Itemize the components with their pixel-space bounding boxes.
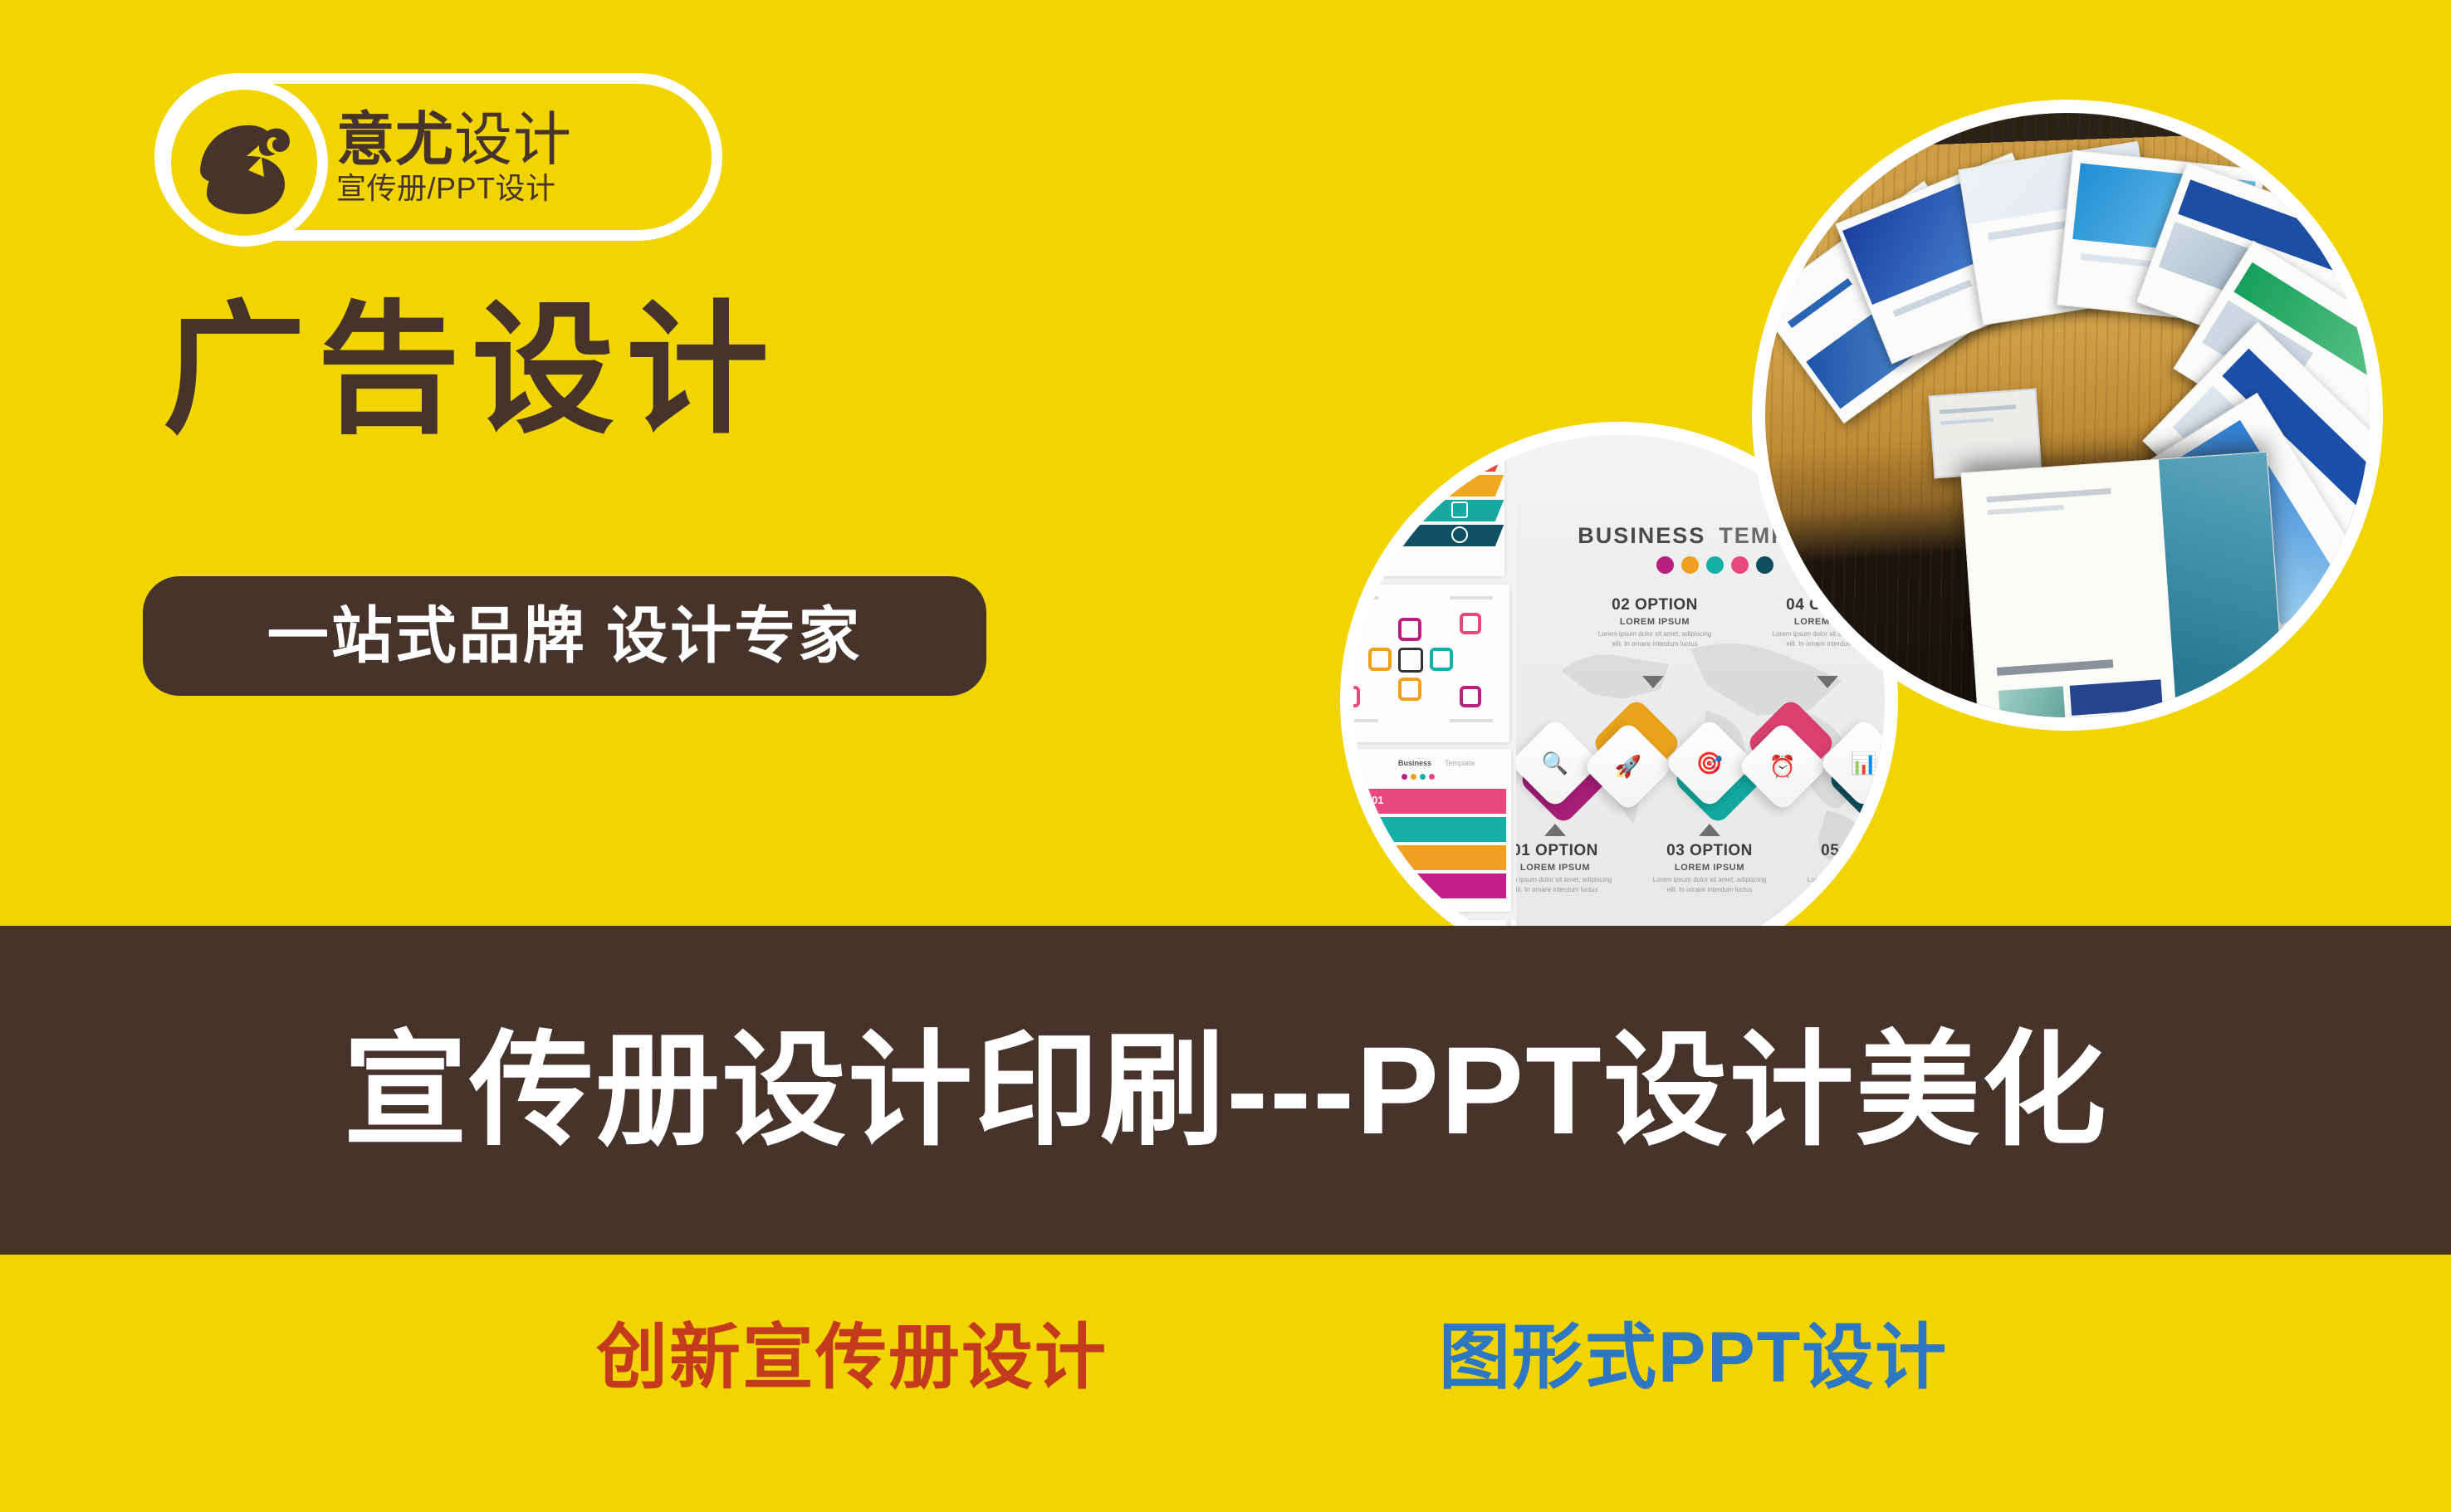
tagline-badge-label: 一站式品牌 设计专家	[267, 605, 863, 667]
magnifier-icon: 🔍	[1523, 731, 1588, 795]
ppt-thumb-funnel: Business Template 01 02 03 04	[1340, 749, 1511, 912]
logo-wordmark: 意尤 设计 宣传册/PPT设计	[336, 84, 726, 230]
promo-bar: 宣传册设计印刷---PPT设计美化	[0, 926, 2451, 1255]
footer-labels: 创新宣传册设计 图形式PPT设计	[0, 1279, 2451, 1436]
chart-icon: 📊	[1832, 731, 1896, 795]
ppt-thumb-matrix	[1340, 585, 1509, 742]
clock-icon: ⏰	[1750, 734, 1815, 799]
logo-brand-light: 设计	[454, 110, 572, 169]
target-icon: 🎯	[1677, 731, 1742, 795]
banner-canvas: 意尤 设计 宣传册/PPT设计 广告设计 一站式品牌 设计专家	[0, 0, 2451, 1512]
brochure-printing-photo-circle: S	[1752, 100, 2383, 731]
ppt-thumb-arrows	[1340, 422, 1504, 576]
tagline-badge: 一站式品牌 设计专家	[143, 576, 986, 696]
logo-tagline: 宣传册/PPT设计	[336, 174, 726, 203]
page-title: 广告设计	[163, 299, 780, 442]
sprout-leaf-logo-icon	[160, 79, 328, 247]
logo-brand-bold: 意尤	[336, 110, 454, 169]
ppt-option-01: 01 OPTION LOREM IPSUM Lorem ipsum dolor …	[1516, 842, 1617, 896]
logo-lockup: 意尤 设计 宣传册/PPT设计	[154, 73, 722, 241]
promo-bar-label: 宣传册设计印刷---PPT设计美化	[343, 1028, 2108, 1152]
ppt-option-02: 02 OPTION LOREM IPSUM Lorem ipsum dolor …	[1592, 596, 1717, 650]
footer-label-brochure: 创新宣传册设计	[596, 1322, 1108, 1393]
ppt-option-05: 05 OPTION LOREM IPSUM Lorem ipsum dolor …	[1802, 842, 1898, 896]
rocket-icon: 🚀	[1596, 734, 1661, 799]
footer-label-ppt: 图形式PPT设计	[1439, 1322, 1948, 1393]
ppt-option-03: 03 OPTION LOREM IPSUM Lorem ipsum dolor …	[1647, 842, 1772, 896]
